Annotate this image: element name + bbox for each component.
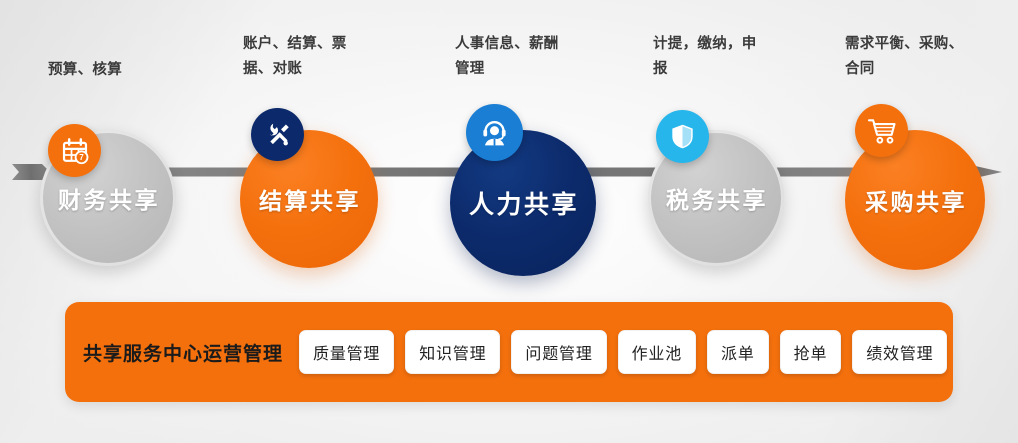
chip-quality-management[interactable]: 质量管理 [299,330,394,374]
shield-icon [656,110,709,163]
node-finance[interactable]: 财务共享 7 [40,128,220,268]
chip-knowledge-management[interactable]: 知识管理 [405,330,500,374]
calendar-seven-icon: 7 [48,124,101,177]
node-tax[interactable]: 税务共享 [648,128,838,273]
shopping-cart-icon [855,104,908,157]
node-tax-label: 税务共享 [664,181,768,215]
node-procurement-label: 采购共享 [863,183,967,217]
node-hr-label: 人力共享 [467,185,579,221]
operations-panel-title: 共享服务中心运营管理 [83,339,283,366]
caption-procurement: 需求平衡、采购、 合同 [845,32,1010,82]
caption-tax: 计提，缴纳，申 报 [653,32,793,82]
node-hr[interactable]: 人力共享 [450,118,650,278]
node-procurement[interactable]: 采购共享 [845,120,1018,275]
caption-settlement: 账户、结算、票 据、对账 [243,32,393,82]
svg-text:7: 7 [79,153,84,162]
caption-hr: 人事信息、薪酬 管理 [455,32,605,82]
headset-agent-icon [466,104,523,161]
node-settlement[interactable]: 结算共享 [240,120,430,270]
tools-icon [251,108,304,161]
diagram-canvas: 预算、核算 账户、结算、票 据、对账 人事信息、薪酬 管理 计提，缴纳，申 报 … [0,0,1018,443]
chip-grab-order[interactable]: 抢单 [780,330,842,374]
node-finance-label: 财务共享 [56,181,160,215]
caption-finance: 预算、核算 [48,58,208,83]
chip-dispatch-order[interactable]: 派单 [707,330,769,374]
node-settlement-label: 结算共享 [257,182,361,216]
chip-work-pool[interactable]: 作业池 [618,330,696,374]
chip-issue-management[interactable]: 问题管理 [511,330,606,374]
chip-performance-management[interactable]: 绩效管理 [852,330,947,374]
operations-panel: 共享服务中心运营管理 质量管理 知识管理 问题管理 作业池 派单 抢单 绩效管理 [65,302,953,402]
node-hr-circle[interactable]: 人力共享 [450,130,596,276]
operations-chip-list: 质量管理 知识管理 问题管理 作业池 派单 抢单 绩效管理 [299,330,947,374]
